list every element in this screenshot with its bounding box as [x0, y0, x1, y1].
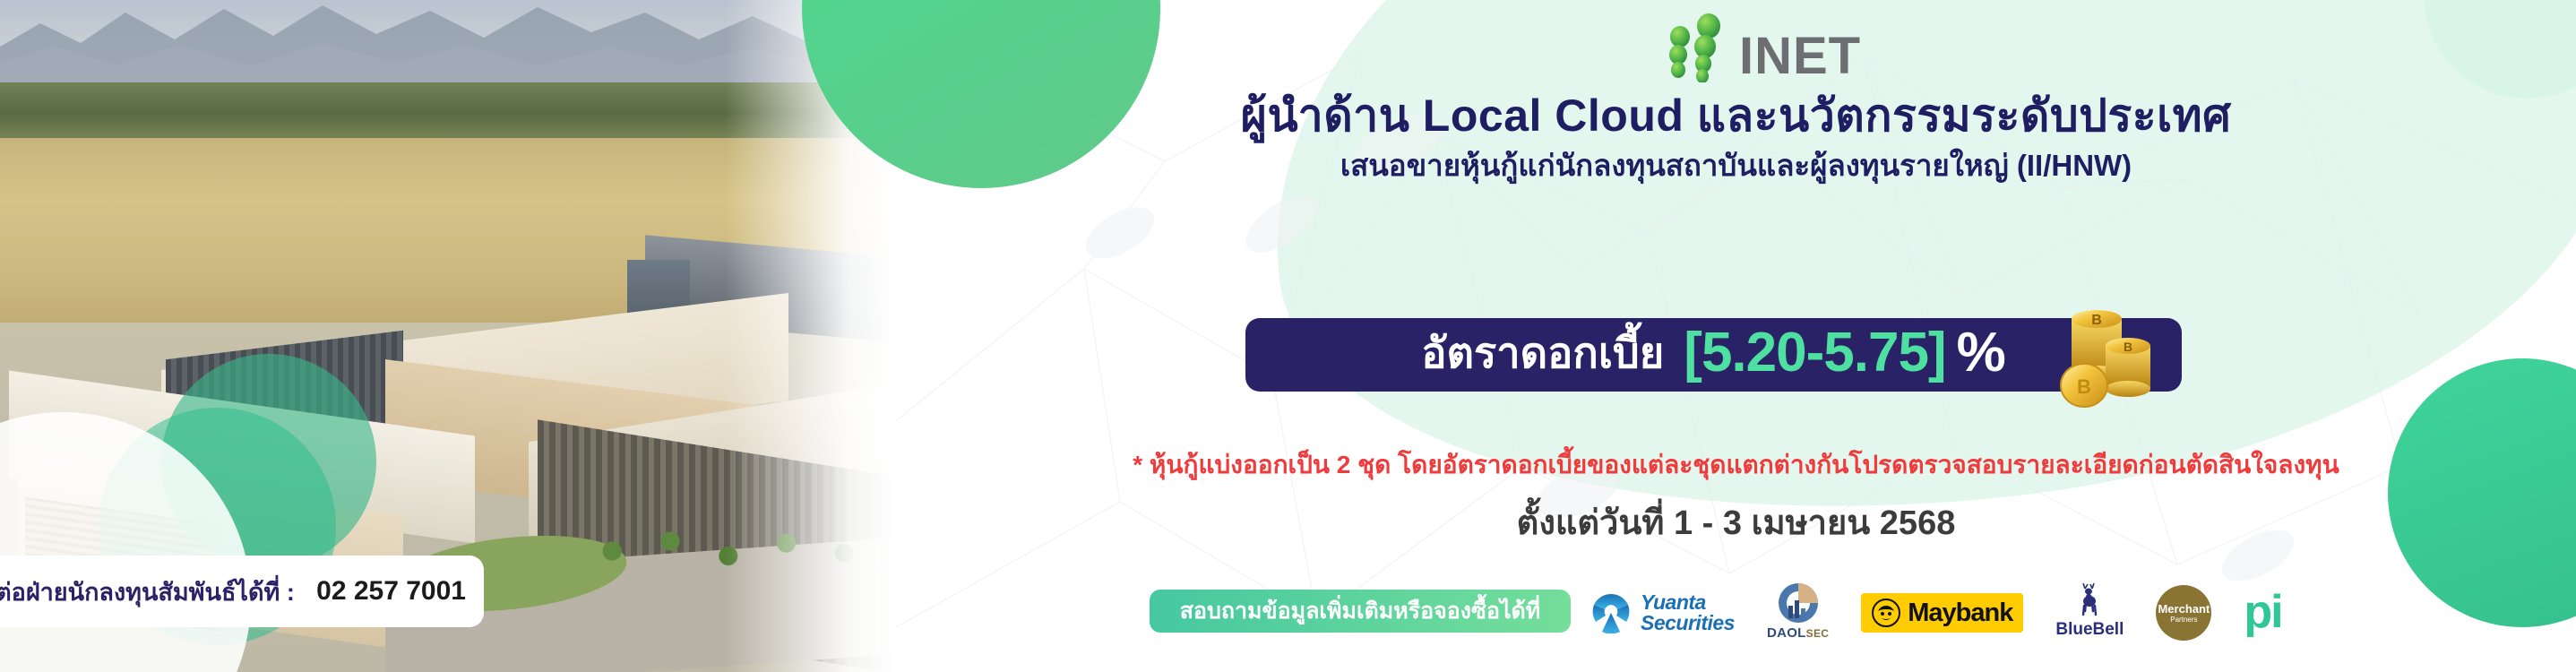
bitcoin-coins-icon: B B B	[2052, 296, 2159, 412]
interest-rate-label: อัตราดอกเบี้ย	[1421, 332, 1664, 379]
maybank-wordmark: Maybank	[1908, 599, 2012, 628]
contact-label: ติดต่อฝ่ายนักลงทุนสัมพันธ์ได้ที่ :	[0, 573, 295, 611]
merchant-line1: Merchant	[2158, 603, 2210, 615]
svg-text:B: B	[2077, 375, 2091, 398]
inet-bond-promotion-banner: INET ผู้นำด้าน Local Cloud และนวัตกรรมระ…	[0, 0, 2576, 672]
bluebell-deer-icon	[2071, 581, 2108, 618]
yuanta-line2: Securities	[1641, 613, 1735, 633]
partner-logos: Yuanta Securities DAOLSEC	[1590, 581, 2282, 645]
partner-logo-pi[interactable]: pi	[2244, 581, 2281, 645]
bluebell-wordmark: BlueBell	[2055, 620, 2124, 640]
inet-logo[interactable]: INET	[1653, 13, 1949, 82]
partner-logo-bluebell[interactable]: BlueBell	[2055, 581, 2124, 645]
interest-rate-box: อัตราดอกเบี้ย [5.20-5.75] %	[1245, 318, 2182, 392]
partner-logo-maybank[interactable]: Maybank	[1861, 581, 2023, 645]
partner-logo-daol[interactable]: DAOLSEC	[1767, 581, 1829, 645]
page-subtitle: เสนอขายหุ้นกู้แก่นักลงทุนสถาบันและผู้ลงท…	[896, 142, 2576, 189]
offering-date-text: ตั้งแต่วันที่ 1 - 3 เมษายน 2568	[896, 495, 2576, 549]
contact-phone-number: 02 257 7001	[316, 576, 466, 607]
merchant-line2: Partners	[2170, 616, 2197, 624]
inet-logo-wordmark: INET	[1739, 30, 1861, 82]
interest-rate-percent: %	[1957, 325, 2006, 384]
yuanta-line1: Yuanta	[1641, 592, 1735, 613]
svg-text:B: B	[2124, 340, 2132, 354]
investor-relations-contact-bar: ติดต่อฝ่ายนักลงทุนสัมพันธ์ได้ที่ : 02 25…	[0, 556, 484, 627]
interest-rate-value: [5.20-5.75]	[1684, 325, 1945, 384]
daol-sec-text: SEC	[1806, 627, 1830, 640]
svg-text:B: B	[2091, 313, 2102, 328]
cta-label: สอบถามข้อมูลเพิ่มเติมหรือจองซื้อได้ที่	[1180, 593, 1541, 629]
daol-text: DAOL	[1767, 625, 1806, 641]
partner-logo-yuanta[interactable]: Yuanta Securities	[1590, 581, 1735, 645]
yuanta-logo-icon	[1590, 592, 1632, 633]
daol-logo-icon	[1776, 581, 1821, 625]
daol-wordmark: DAOLSEC	[1767, 625, 1829, 641]
inet-dots-icon	[1653, 13, 1752, 82]
pi-wordmark: pi	[2244, 594, 2281, 632]
cta-button[interactable]: สอบถามข้อมูลเพิ่มเติมหรือจองซื้อได้ที่	[1150, 590, 1571, 633]
footnote-text: * หุ้นกู้แบ่งออกเป็น 2 ชุด โดยอัตราดอกเบ…	[896, 445, 2576, 485]
merchant-partners-icon: Merchant Partners	[2156, 585, 2211, 641]
maybank-tiger-icon	[1872, 599, 1900, 627]
yuanta-wordmark: Yuanta Securities	[1641, 592, 1735, 633]
partner-logo-merchant-partners[interactable]: Merchant Partners	[2156, 581, 2211, 645]
